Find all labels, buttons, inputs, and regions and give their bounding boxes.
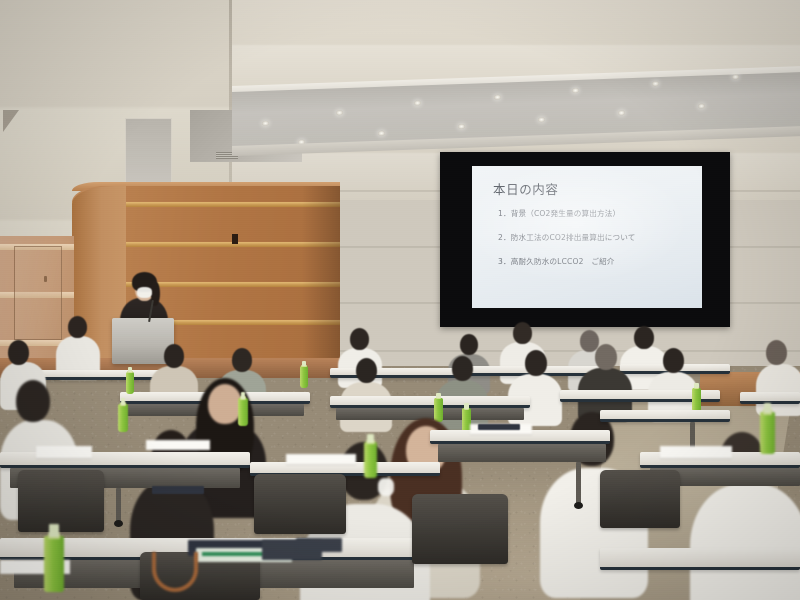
projected-slide: 本日の内容 1．背景（CO2発生量の算出方法） 2．防水工法のCO2排出量算出に…: [472, 166, 702, 308]
paper-sheet: [36, 446, 92, 458]
wall-fixture-icon: [232, 234, 238, 244]
wood-wall-shadow: [302, 186, 340, 364]
green-tea-bottle: [126, 372, 134, 394]
green-tea-bottle: [760, 412, 775, 454]
slide-bullet-1: 1．背景（CO2発生量の算出方法）: [498, 208, 698, 219]
chair: [412, 494, 508, 564]
downlight-icon: [494, 95, 501, 100]
projection-screen-frame: 本日の内容 1．背景（CO2発生量の算出方法） 2．防水工法のCO2排出量算出に…: [440, 152, 730, 327]
wall-vent-icon: [3, 110, 19, 132]
downlight-icon: [378, 131, 385, 136]
desk: [330, 368, 460, 378]
paper-sheet: [660, 446, 732, 458]
downlight-icon: [336, 110, 343, 115]
downlight-icon: [698, 103, 705, 108]
downlight-icon: [732, 74, 739, 79]
green-tea-bottle: [44, 536, 64, 592]
green-tea-bottle: [364, 442, 377, 478]
green-tea-bottle: [118, 404, 128, 432]
downlight-icon: [538, 117, 545, 122]
wall-niche: [125, 118, 172, 188]
chair: [18, 470, 104, 532]
green-tea-bottle: [238, 398, 248, 426]
side-door[interactable]: [14, 246, 62, 340]
paper-sheet: [146, 440, 210, 450]
face-mask-icon: [378, 478, 394, 496]
slide-bullet-list: 1．背景（CO2発生量の算出方法） 2．防水工法のCO2排出量算出について 3．…: [498, 208, 698, 280]
green-tea-bottle: [692, 388, 701, 412]
desk: [600, 548, 800, 570]
green-tea-bottle: [434, 398, 443, 422]
notebook: [478, 424, 520, 430]
paper-sheet: [286, 454, 356, 464]
door-knob-icon[interactable]: [44, 276, 47, 282]
downlight-icon: [414, 100, 421, 105]
chair: [254, 474, 346, 534]
downlight-icon: [262, 121, 269, 126]
desk: [330, 396, 530, 408]
chair: [600, 470, 680, 528]
desk: [600, 410, 730, 422]
downlight-icon: [652, 81, 659, 86]
downlight-icon: [458, 124, 465, 129]
desk: [40, 370, 160, 380]
slide-bullet-3: 3．高耐久防水のLCCO2 ご紹介: [498, 256, 698, 267]
face-mask-icon: [137, 287, 152, 298]
slide-bullet-2: 2．防水工法のCO2排出量算出について: [498, 232, 698, 243]
downlight-icon: [618, 110, 625, 115]
photo-scene: 本日の内容 1．背景（CO2発生量の算出方法） 2．防水工法のCO2排出量算出に…: [0, 0, 800, 600]
downlight-icon: [572, 88, 579, 93]
notebook: [152, 486, 204, 494]
notebook: [296, 538, 342, 552]
slide-title: 本日の内容: [493, 179, 559, 198]
green-tea-bottle: [300, 366, 308, 388]
